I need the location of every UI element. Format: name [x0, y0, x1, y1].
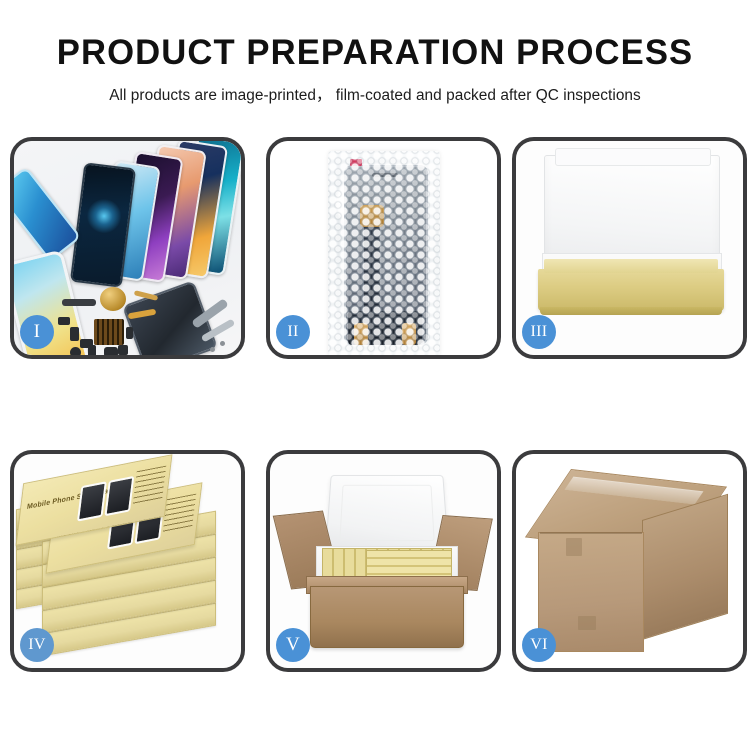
box-artwork-phone-4	[104, 476, 134, 516]
header: PRODUCT PREPARATION PROCESS All products…	[0, 32, 750, 105]
box-artwork-phone-3	[77, 481, 107, 521]
page-title: PRODUCT PREPARATION PROCESS	[4, 32, 747, 74]
carton-mark-lower	[578, 616, 596, 630]
carton-side-face	[642, 494, 728, 640]
bubble-wrap-bag	[328, 151, 440, 355]
tray-base-edge	[540, 307, 722, 315]
foam-lid-open	[325, 475, 449, 553]
page-subtitle: All products are image-printed， film-coa…	[0, 83, 750, 105]
step-badge-1: I	[20, 315, 54, 349]
step-panel-4[interactable]: Mobile Phone Spare Parts Mobile Phone Sp…	[10, 450, 245, 672]
steps-grid: I II	[10, 137, 740, 674]
box-spec-lines-rear	[133, 466, 167, 505]
shipping-carton	[538, 476, 728, 656]
carton-seam	[540, 532, 642, 534]
carton-mark-upper	[566, 538, 582, 556]
step-panel-2[interactable]: II	[266, 137, 501, 359]
kraft-tray-box	[538, 269, 724, 311]
carton-front-face	[538, 532, 644, 652]
step-panel-6[interactable]: VI	[512, 450, 747, 672]
step-badge-4: IV	[20, 628, 54, 662]
step-panel-1[interactable]: I	[10, 137, 245, 359]
step-badge-2: II	[276, 315, 310, 349]
step-badge-6: VI	[522, 628, 556, 662]
step-panel-5[interactable]: V	[266, 450, 501, 672]
bubble-texture-secondary	[328, 151, 440, 355]
step-panel-3[interactable]: III	[512, 137, 747, 359]
product-preparation-process-infographic: PRODUCT PREPARATION PROCESS All products…	[0, 0, 750, 750]
step-badge-3: III	[522, 315, 556, 349]
step-badge-5: V	[276, 628, 310, 662]
carton-body	[310, 586, 464, 648]
box-spec-lines-front	[163, 494, 197, 533]
